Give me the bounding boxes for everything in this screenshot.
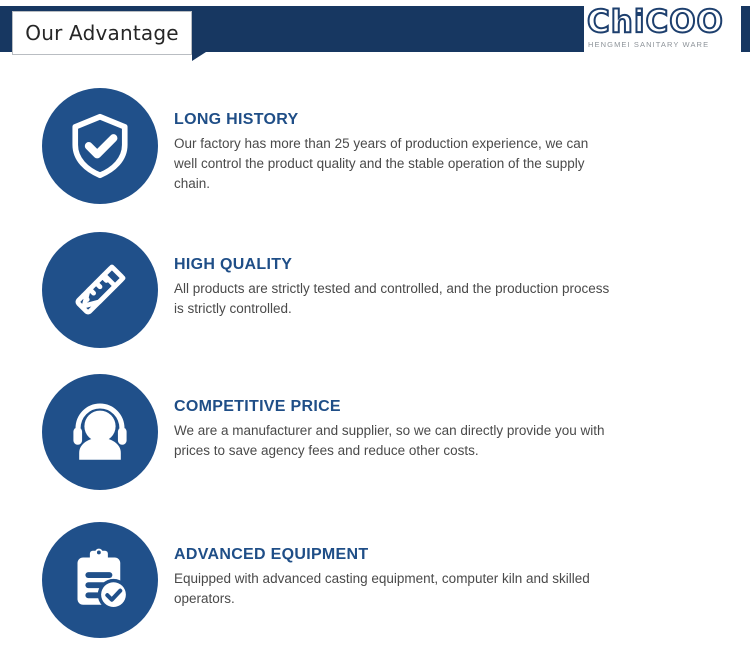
headset-support-icon [42, 374, 158, 490]
logo-tagline: HENGMEI SANITARY WARE [588, 40, 709, 49]
advantage-description: Our factory has more than 25 years of pr… [174, 134, 614, 194]
advantage-text: ADVANCED EQUIPMENT Equipped with advance… [174, 546, 614, 609]
section-title-label: Our Advantage [25, 21, 179, 45]
advantage-text: LONG HISTORY Our factory has more than 2… [174, 111, 614, 194]
advantage-title: COMPETITIVE PRICE [174, 398, 614, 416]
logo-bar-right [741, 6, 750, 52]
clipboard-check-icon [42, 522, 158, 638]
advantage-description: Equipped with advanced casting equipment… [174, 569, 614, 609]
pencil-ruler-icon [42, 232, 158, 348]
logo-wordmark: ChiCOO [587, 7, 724, 38]
advantage-title: HIGH QUALITY [174, 256, 614, 274]
advantage-description: All products are strictly tested and con… [174, 279, 614, 319]
advantage-description: We are a manufacturer and supplier, so w… [174, 421, 614, 461]
section-title-tab: Our Advantage [12, 11, 192, 55]
shield-check-icon [42, 88, 158, 204]
advantage-title: ADVANCED EQUIPMENT [174, 546, 614, 564]
advantage-list: LONG HISTORY Our factory has more than 2… [0, 78, 750, 670]
advantage-item: COMPETITIVE PRICE We are a manufacturer … [0, 374, 750, 522]
brand-logo[interactable]: ChiCOO HENGMEI SANITARY WARE [575, 6, 750, 52]
header-tab-notch [192, 52, 206, 61]
advantage-item: ADVANCED EQUIPMENT Equipped with advance… [0, 522, 750, 670]
logo-wordmark-text: ChiCOO [587, 4, 724, 40]
logo-bar-left [575, 6, 584, 52]
advantage-text: HIGH QUALITY All products are strictly t… [174, 256, 614, 319]
advantage-item: LONG HISTORY Our factory has more than 2… [0, 78, 750, 226]
advantage-item: HIGH QUALITY All products are strictly t… [0, 226, 750, 374]
advantage-title: LONG HISTORY [174, 111, 614, 129]
advantage-text: COMPETITIVE PRICE We are a manufacturer … [174, 398, 614, 461]
